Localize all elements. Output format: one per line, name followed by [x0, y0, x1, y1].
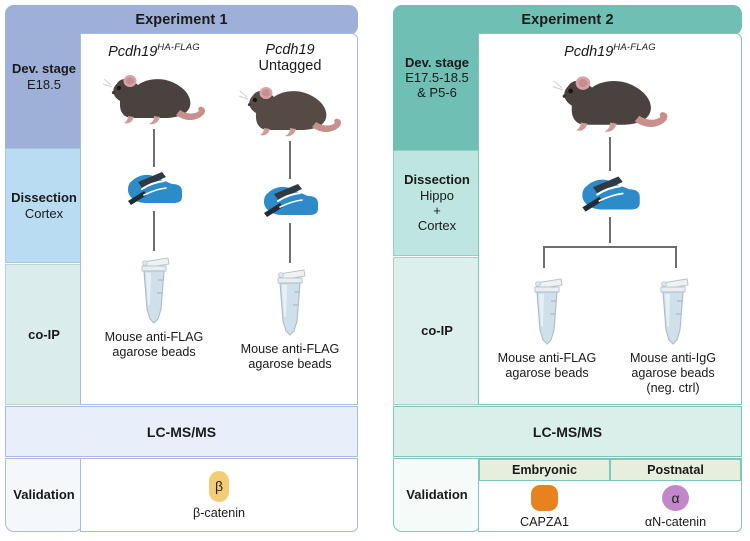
- exp2-branch-connector: [479, 246, 741, 272]
- exp2-validation-header-row: Embryonic Postnatal: [479, 459, 741, 481]
- exp2-beads-label-0: Mouse anti-FLAG agarose beads: [495, 351, 599, 381]
- exp1-connector-0b: [153, 211, 155, 251]
- exp2-dev-stage-sub-0: E17.5-18.5: [405, 70, 469, 85]
- gloved-hand-scalpel-icon: [122, 167, 186, 209]
- exp1-mouse-1: [234, 77, 346, 139]
- exp2-dissection-sub-0: Hippo: [420, 188, 454, 203]
- exp2-mouse: [547, 65, 673, 135]
- exp2-dissection-sub-1: +: [433, 203, 441, 218]
- microcentrifuge-tube-icon: [653, 274, 693, 348]
- exp1-lcms-band: LC-MS/MS: [5, 406, 358, 457]
- exp2-branch-drop-right: [675, 246, 677, 268]
- exp1-dissection-title: Dissection: [11, 190, 77, 205]
- exp1-validation-title: Validation: [13, 487, 74, 502]
- exp1-genotype-second-1-wrap: Untagged: [259, 59, 322, 75]
- experiment-2-panel: Experiment 2 Dev. stage E17.5-18.5 & P5-…: [388, 0, 750, 541]
- exp2-validation-title: Validation: [406, 487, 467, 502]
- exp1-beads-label-1: Mouse anti-FLAG agarose beads: [240, 342, 340, 372]
- exp2-connector-mid: [609, 217, 611, 243]
- microcentrifuge-tube-icon: [270, 265, 310, 339]
- microcentrifuge-tube-icon: [527, 274, 567, 348]
- beta-catenin-badge-icon: β: [209, 471, 229, 502]
- exp2-validation-label-1: αN-catenin: [645, 515, 706, 529]
- exp2-column-flag: Mouse anti-FLAG agarose beads: [483, 274, 611, 381]
- experiment-1-panel: Experiment 1 Dev. stage E18.5 Dissection…: [0, 0, 368, 541]
- mouse-icon: [547, 65, 673, 135]
- exp2-genotype-sup: HA-FLAG: [613, 42, 656, 53]
- exp2-dev-stage-title: Dev. stage: [405, 55, 469, 70]
- exp2-beads-label-1: Mouse anti-IgG agarose beads (neg. ctrl): [620, 351, 726, 396]
- exp1-sidebar-coip: co-IP: [5, 264, 83, 405]
- exp2-branch-hbar: [543, 246, 677, 248]
- mouse-icon: [234, 77, 346, 139]
- exp1-tube-1: [270, 265, 310, 339]
- exp2-validation-body: CAPZA1 α αN-catenin: [479, 481, 741, 533]
- capza1-badge-icon: [531, 485, 558, 511]
- exp1-tube-0: [134, 253, 174, 327]
- exp2-coip-title: co-IP: [421, 323, 453, 338]
- exp2-dissection-sub-2: Cortex: [418, 218, 456, 233]
- exp1-validation-label-0: β-catenin: [193, 506, 245, 520]
- alphaN-catenin-badge-icon: α: [662, 485, 689, 511]
- exp1-genotype-main-0: Pcdh19: [108, 44, 157, 60]
- exp1-content-area: Pcdh19HA-FLAG: [80, 33, 358, 405]
- exp2-sidebar-dev-stage: Dev. stage E17.5-18.5 & P5-6: [393, 5, 481, 150]
- exp2-validation-content: Embryonic Postnatal CAPZA1 α αN-catenin: [478, 458, 742, 532]
- exp2-dissection-title: Dissection: [404, 172, 470, 187]
- exp1-genotype-second-1: Untagged: [259, 58, 322, 74]
- exp1-genotype-sup-0: HA-FLAG: [157, 42, 200, 53]
- exp1-dissection-hand-1: [258, 179, 322, 221]
- exp1-connector-1a: [289, 141, 291, 179]
- exp1-connector-1b: [289, 223, 291, 263]
- microcentrifuge-tube-icon: [134, 253, 174, 327]
- exp2-validation-label-0: CAPZA1: [520, 515, 569, 529]
- exp2-sidebar-coip: co-IP: [393, 257, 481, 405]
- exp2-genotype-label: Pcdh19HA-FLAG: [564, 43, 656, 61]
- exp1-beads-label-0: Mouse anti-FLAG agarose beads: [104, 330, 204, 360]
- exp1-genotype-main-1: Pcdh19: [265, 42, 314, 58]
- exp2-validation-header-embryonic: Embryonic: [479, 459, 610, 481]
- gloved-hand-scalpel-icon: [258, 179, 322, 221]
- exp2-column-igg: Mouse anti-IgG agarose beads (neg. ctrl): [609, 274, 737, 396]
- exp2-single-column-top: Pcdh19HA-FLAG: [479, 34, 741, 243]
- exp1-dissection-hand-0: [122, 167, 186, 209]
- exp1-coip-title: co-IP: [28, 327, 60, 342]
- exp1-column-untagged: Pcdh19 Untagged: [223, 34, 357, 404]
- exp2-tube-0: [527, 274, 567, 348]
- exp2-validation-item-0: CAPZA1: [479, 481, 610, 533]
- mouse-icon: [98, 65, 210, 127]
- exp1-validation-content: β β-catenin: [80, 458, 358, 532]
- exp2-genotype-main: Pcdh19: [564, 44, 613, 60]
- exp2-dissection-hand: [576, 171, 644, 216]
- exp2-tube-1: [653, 274, 693, 348]
- exp1-mouse-0: [98, 65, 210, 127]
- exp2-content-area: Pcdh19HA-FLAG: [478, 33, 742, 405]
- gloved-hand-scalpel-icon: [576, 171, 644, 216]
- exp1-sidebar-dev-stage: Dev. stage E18.5: [5, 5, 83, 148]
- exp2-dev-stage-sub-1: & P5-6: [417, 85, 457, 100]
- exp2-connector-top: [609, 137, 611, 171]
- exp2-sidebar-validation: Validation: [393, 458, 481, 532]
- exp1-dev-stage-sub-0: E18.5: [27, 77, 61, 92]
- exp1-dev-stage-title: Dev. stage: [12, 61, 76, 76]
- exp1-column-tagged: Pcdh19HA-FLAG: [87, 34, 221, 404]
- exp1-dissection-sub-0: Cortex: [25, 206, 63, 221]
- exp1-connector-0a: [153, 129, 155, 167]
- exp2-validation-header-postnatal: Postnatal: [610, 459, 741, 481]
- exp2-sidebar-dissection: Dissection Hippo + Cortex: [393, 150, 481, 256]
- exp2-validation-item-1: α αN-catenin: [610, 481, 741, 533]
- exp1-sidebar-validation: Validation: [5, 458, 83, 532]
- exp1-genotype-label-1: Pcdh19: [265, 43, 314, 59]
- exp1-validation-item-0: β β-catenin: [81, 459, 357, 531]
- exp2-branch-drop-left: [543, 246, 545, 268]
- exp1-genotype-label-0: Pcdh19HA-FLAG: [108, 43, 200, 61]
- exp1-sidebar-dissection: Dissection Cortex: [5, 148, 83, 263]
- exp2-lcms-band: LC-MS/MS: [393, 406, 742, 457]
